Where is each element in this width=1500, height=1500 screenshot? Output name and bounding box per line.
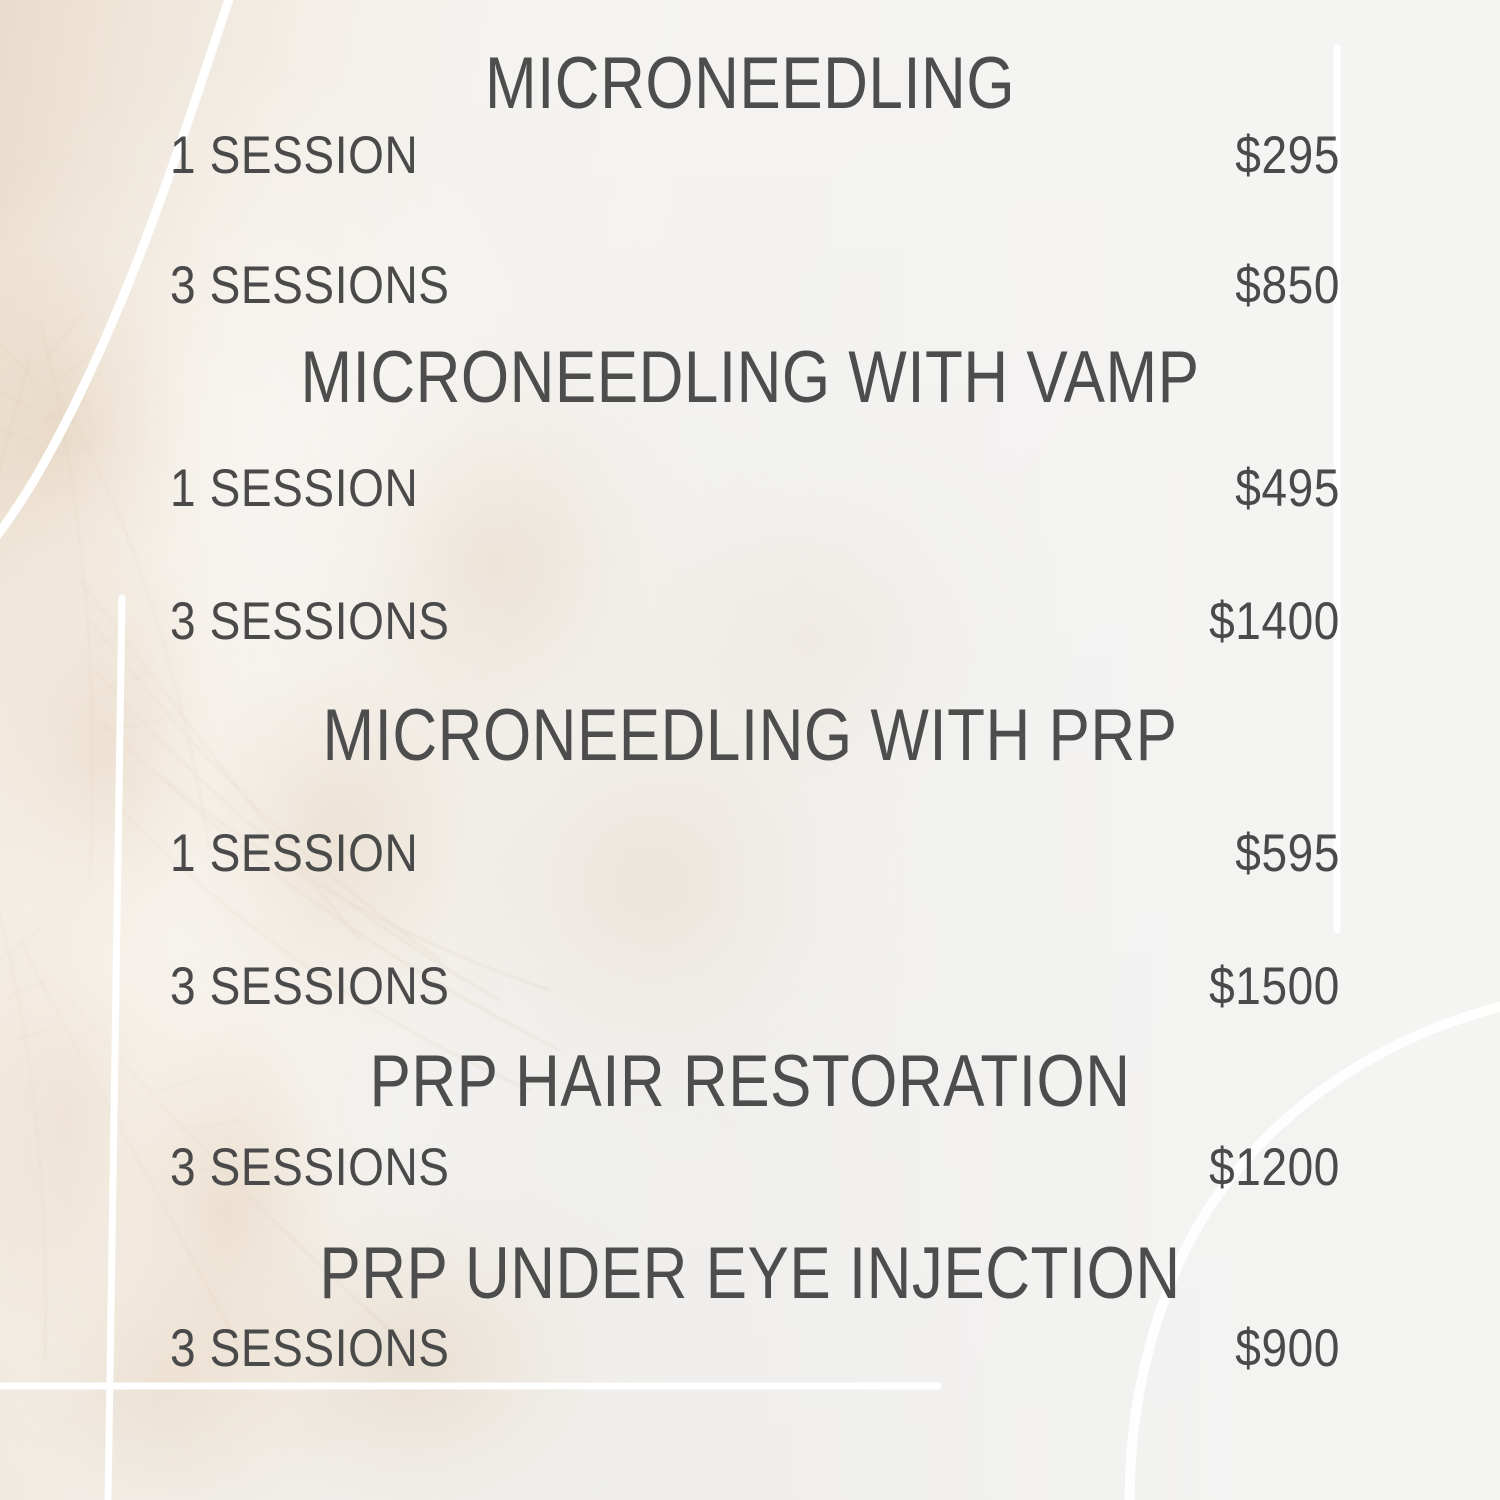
price-row-value: $495 <box>1235 462 1340 514</box>
price-row: 3 SESSIONS $900 <box>170 1325 1340 1371</box>
pricing-menu-page: MICRONEEDLING 1 SESSION $295 3 SESSIONS … <box>0 0 1500 1500</box>
price-row: 3 SESSIONS $850 <box>170 262 1340 308</box>
price-row-value: $1400 <box>1209 595 1340 647</box>
price-row: 3 SESSIONS $1500 <box>170 963 1340 1009</box>
price-row: 3 SESSIONS $1200 <box>170 1144 1340 1190</box>
price-row-label: 3 SESSIONS <box>170 1141 450 1193</box>
price-row: 3 SESSIONS $1400 <box>170 598 1340 644</box>
price-row: 1 SESSION $595 <box>170 830 1340 876</box>
price-row-label: 3 SESSIONS <box>170 595 450 647</box>
price-row-value: $850 <box>1235 259 1340 311</box>
price-row-label: 1 SESSION <box>170 827 418 879</box>
price-row-label: 1 SESSION <box>170 129 418 181</box>
service-title-microneedling-with-vamp: MICRONEEDLING WITH VAMP <box>0 342 1500 415</box>
price-row: 1 SESSION $495 <box>170 465 1340 511</box>
price-row-label: 3 SESSIONS <box>170 1322 450 1374</box>
service-title-microneedling: MICRONEEDLING <box>0 48 1500 121</box>
price-row-label: 1 SESSION <box>170 462 418 514</box>
price-list: MICRONEEDLING 1 SESSION $295 3 SESSIONS … <box>0 0 1500 1500</box>
service-title-microneedling-with-prp: MICRONEEDLING WITH PRP <box>0 700 1500 773</box>
price-row-value: $295 <box>1235 129 1340 181</box>
price-row-value: $900 <box>1235 1322 1340 1374</box>
price-row-label: 3 SESSIONS <box>170 960 450 1012</box>
price-row-value: $595 <box>1235 827 1340 879</box>
service-title-prp-under-eye-injection: PRP UNDER EYE INJECTION <box>0 1238 1500 1311</box>
price-row-value: $1500 <box>1209 960 1340 1012</box>
price-row: 1 SESSION $295 <box>170 132 1340 178</box>
price-row-label: 3 SESSIONS <box>170 259 450 311</box>
price-row-value: $1200 <box>1209 1141 1340 1193</box>
service-title-prp-hair-restoration: PRP HAIR RESTORATION <box>0 1046 1500 1119</box>
